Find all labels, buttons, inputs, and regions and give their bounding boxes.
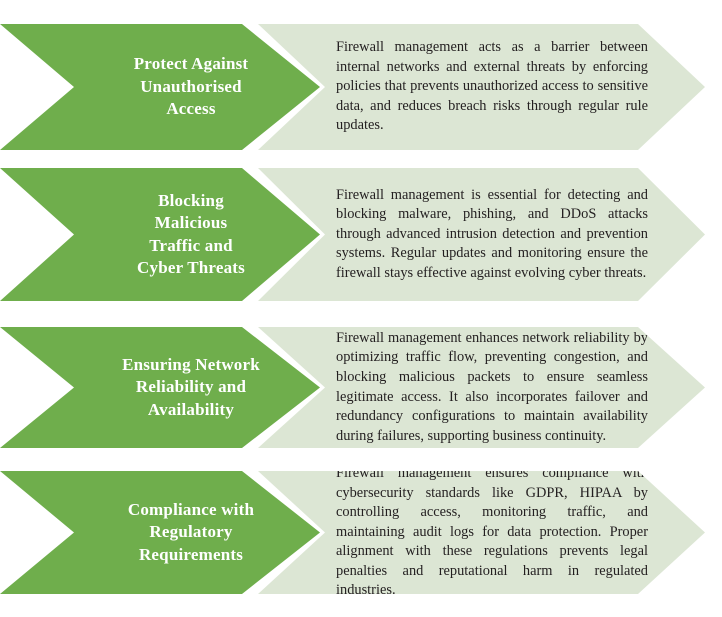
chevron-heading-label-1: Protect Against Unauthorised Access — [134, 53, 249, 120]
description-panel-3: Firewall management enhances network rel… — [258, 327, 705, 448]
chevron-heading-label-4: Compliance with Regulatory Requirements — [128, 499, 254, 566]
diagram-row: Blocking Malicious Traffic and Cyber Thr… — [0, 168, 722, 301]
description-text-1: Firewall management acts as a barrier be… — [336, 38, 648, 136]
chevron-heading-block-4: Compliance with Regulatory Requirements — [0, 471, 320, 594]
chevron-heading-label-3: Ensuring Network Reliability and Availab… — [122, 354, 260, 421]
chevron-heading-block-1: Protect Against Unauthorised Access — [0, 24, 320, 150]
description-panel-2: Firewall management is essential for det… — [258, 168, 705, 301]
chevron-heading-block-3: Ensuring Network Reliability and Availab… — [0, 327, 320, 448]
description-text-2: Firewall management is essential for det… — [336, 186, 648, 284]
description-text-4: Firewall management ensures compliance w… — [336, 464, 648, 601]
chevron-heading-label-2: Blocking Malicious Traffic and Cyber Thr… — [137, 190, 245, 280]
diagram-row: Compliance with Regulatory Requirements … — [0, 471, 722, 594]
description-panel-4: Firewall management ensures compliance w… — [258, 471, 705, 594]
chevron-diagram: Protect Against Unauthorised Access Fire… — [0, 0, 722, 617]
description-panel-1: Firewall management acts as a barrier be… — [258, 24, 705, 150]
chevron-heading-block-2: Blocking Malicious Traffic and Cyber Thr… — [0, 168, 320, 301]
diagram-row: Protect Against Unauthorised Access Fire… — [0, 24, 722, 150]
description-text-3: Firewall management enhances network rel… — [336, 329, 648, 446]
diagram-row: Ensuring Network Reliability and Availab… — [0, 327, 722, 448]
